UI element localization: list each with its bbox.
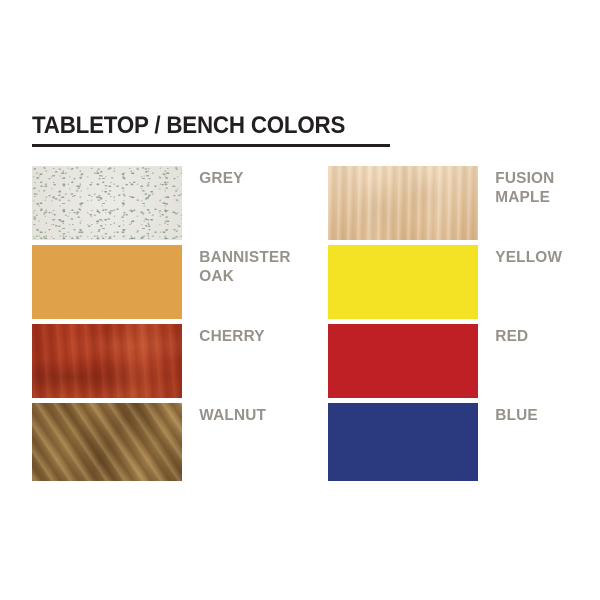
swatch-row[interactable]: YELLOW [328,245,596,319]
swatch-label-fusion-maple: FUSION MAPLE [478,166,554,207]
swatch-row[interactable]: BLUE [328,403,596,481]
swatch-grey[interactable] [32,166,182,240]
swatch-cherry[interactable] [32,324,182,398]
right-column: FUSION MAPLE YELLOW RED BLUE [328,166,596,486]
swatch-fusion-maple[interactable] [328,166,478,240]
swatch-bannister-oak[interactable] [32,245,182,319]
swatch-label-cherry: CHERRY [182,324,265,346]
swatch-blue[interactable] [328,403,478,481]
swatch-row[interactable]: GREY [32,166,300,240]
page-title: TABLETOP / BENCH COLORS [32,113,367,139]
swatch-columns: GREY BANNISTER OAK CHERRY WALNUT FUSION … [0,166,600,486]
swatch-row[interactable]: WALNUT [32,403,300,481]
swatch-row[interactable]: BANNISTER OAK [32,245,300,319]
swatch-yellow[interactable] [328,245,478,319]
title-underline-rule [32,144,390,148]
swatch-label-bannister-oak: BANNISTER OAK [182,245,291,286]
swatch-label-red: RED [478,324,528,346]
swatch-label-blue: BLUE [478,403,538,425]
swatch-label-yellow: YELLOW [478,245,562,267]
swatch-label-walnut: WALNUT [182,403,266,425]
swatch-row[interactable]: FUSION MAPLE [328,166,596,240]
swatch-row[interactable]: CHERRY [32,324,300,398]
swatch-red[interactable] [328,324,478,398]
swatch-label-grey: GREY [182,166,244,188]
swatch-row[interactable]: RED [328,324,596,398]
swatch-walnut[interactable] [32,403,182,481]
left-column: GREY BANNISTER OAK CHERRY WALNUT [32,166,300,486]
title-block: TABLETOP / BENCH COLORS [32,113,392,148]
color-chart-sheet: TABLETOP / BENCH COLORS GREY BANNISTER O… [0,0,600,600]
